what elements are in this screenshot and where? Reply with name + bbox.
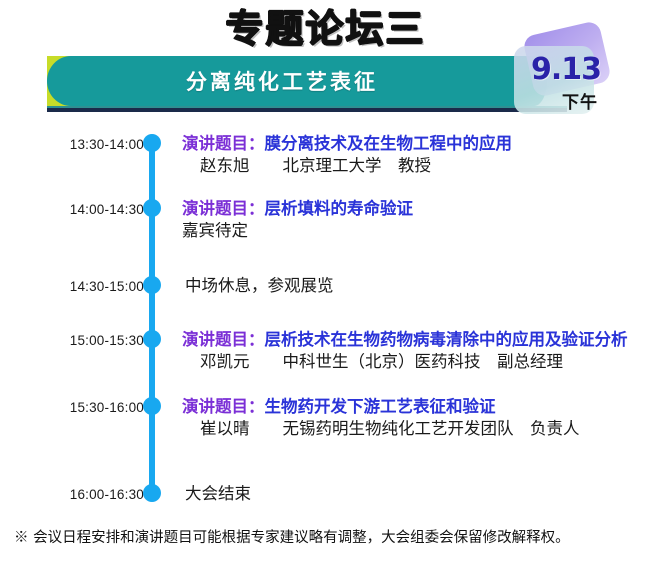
row-body: 演讲题目：生物药开发下游工艺表征和验证崔以晴 无锡药明生物纯化工艺开发团队 负责… bbox=[182, 396, 650, 440]
row-text: 中场休息，参观展览 bbox=[182, 275, 650, 296]
timeline-dot bbox=[143, 330, 161, 348]
talk-heading: 演讲题目：生物药开发下游工艺表征和验证 bbox=[182, 396, 650, 417]
row-body: 演讲题目：层析技术在生物药物病毒清除中的应用及验证分析邓凯元 中科世生（北京）医… bbox=[182, 329, 650, 373]
talk-label: 演讲题目： bbox=[182, 134, 265, 153]
timeline-dot bbox=[143, 199, 161, 217]
row-time: 15:30-16:00 bbox=[52, 400, 144, 415]
row-body: 中场休息，参观展览 bbox=[182, 275, 650, 296]
talk-heading: 演讲题目：层析技术在生物药物病毒清除中的应用及验证分析 bbox=[182, 329, 650, 350]
talk-speaker: 嘉宾待定 bbox=[182, 219, 650, 242]
talk-heading: 演讲题目：膜分离技术及在生物工程中的应用 bbox=[182, 133, 650, 154]
timeline-dot bbox=[143, 276, 161, 294]
talk-title: 层析填料的寿命验证 bbox=[265, 199, 414, 218]
talk-heading: 演讲题目：层析填料的寿命验证 bbox=[182, 198, 650, 219]
talk-title: 生物药开发下游工艺表征和验证 bbox=[265, 397, 496, 416]
talk-title: 层析技术在生物药物病毒清除中的应用及验证分析 bbox=[265, 330, 628, 349]
timeline-dot bbox=[143, 484, 161, 502]
row-text: 大会结束 bbox=[182, 483, 650, 504]
row-body: 大会结束 bbox=[182, 483, 650, 504]
badge-date: 9.13 bbox=[512, 52, 620, 87]
row-time: 14:00-14:30 bbox=[52, 202, 144, 217]
talk-label: 演讲题目： bbox=[182, 397, 265, 416]
banner-underline-navy bbox=[47, 108, 567, 112]
row-body: 演讲题目：膜分离技术及在生物工程中的应用赵东旭 北京理工大学 教授 bbox=[182, 133, 650, 177]
row-body: 演讲题目：层析填料的寿命验证嘉宾待定 bbox=[182, 198, 650, 242]
row-time: 14:30-15:00 bbox=[52, 279, 144, 294]
talk-speaker: 崔以晴 无锡药明生物纯化工艺开发团队 负责人 bbox=[182, 417, 650, 440]
row-time: 16:00-16:30 bbox=[52, 487, 144, 502]
row-time: 15:00-15:30 bbox=[52, 333, 144, 348]
timeline-dot bbox=[143, 134, 161, 152]
date-badge: 9.13 下午 bbox=[500, 28, 625, 118]
talk-label: 演讲题目： bbox=[182, 199, 265, 218]
badge-period: 下午 bbox=[526, 88, 634, 113]
row-time: 13:30-14:00 bbox=[52, 137, 144, 152]
talk-speaker: 邓凯元 中科世生（北京）医药科技 副总经理 bbox=[182, 350, 650, 373]
talk-speaker: 赵东旭 北京理工大学 教授 bbox=[182, 154, 650, 177]
footer-note: ※ 会议日程安排和演讲题目可能根据专家建议略有调整，大会组委会保留修改解释权。 bbox=[14, 526, 644, 547]
banner-title: 分离纯化工艺表征 bbox=[47, 56, 517, 106]
forum-agenda-poster: 专题论坛三 分离纯化工艺表征 9.13 下午 13:30-14:00演讲题目：膜… bbox=[0, 0, 651, 565]
timeline-dot bbox=[143, 397, 161, 415]
talk-label: 演讲题目： bbox=[182, 330, 265, 349]
session-banner: 分离纯化工艺表征 bbox=[47, 56, 547, 106]
talk-title: 膜分离技术及在生物工程中的应用 bbox=[265, 134, 513, 153]
timeline-axis bbox=[149, 140, 155, 492]
